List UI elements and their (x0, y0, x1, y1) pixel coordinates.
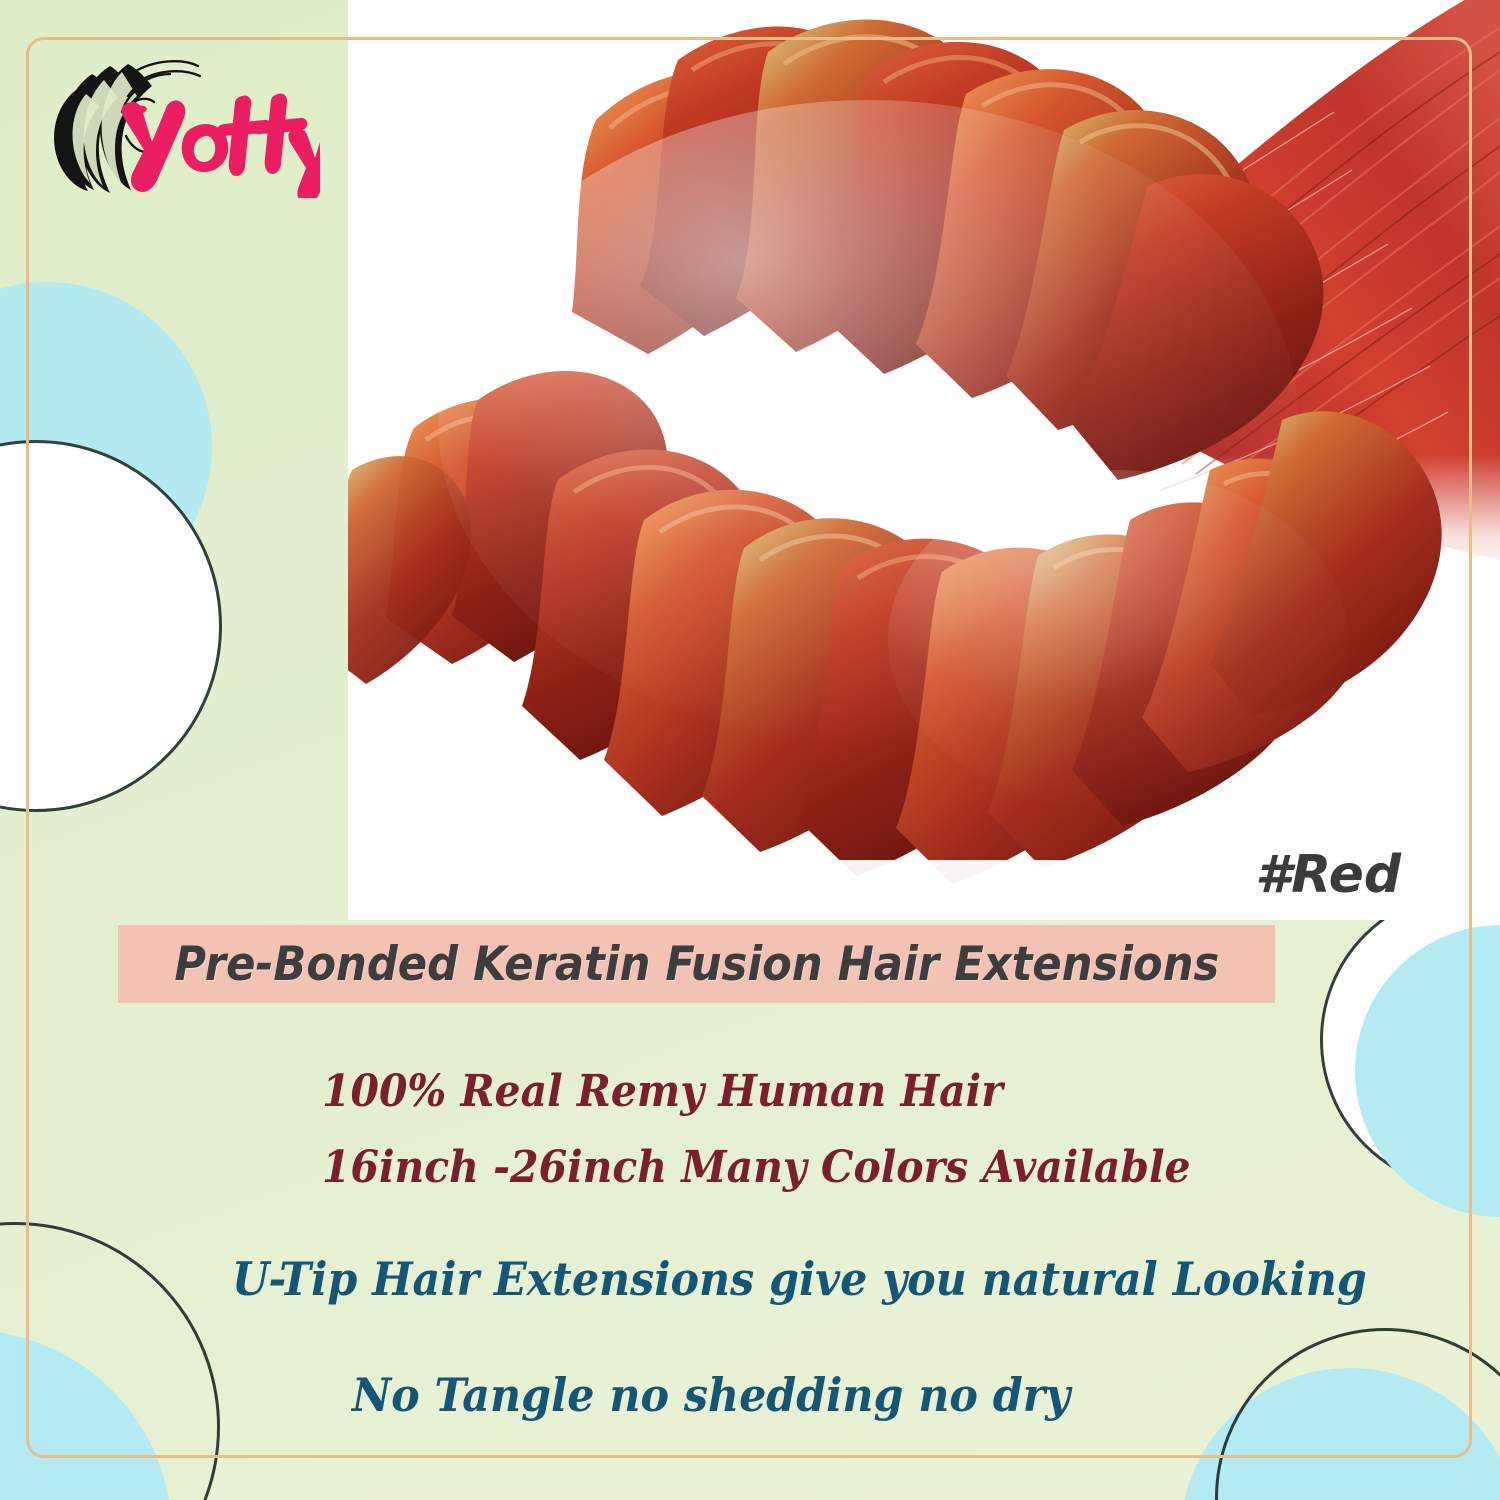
woman-with-flowing-hair-icon (30, 38, 320, 198)
feature-line-remy-hair: 100% Real Remy Human Hair (322, 1066, 1003, 1117)
brand-wordmark (122, 93, 320, 198)
headline-banner: Pre-Bonded Keratin Fusion Hair Extension… (118, 925, 1275, 1003)
feature-line-no-tangle: No Tangle no shedding no dry (352, 1368, 1070, 1422)
feature-line-natural-looking: U-Tip Hair Extensions give you natural L… (232, 1252, 1367, 1306)
feature-line-lengths-colors: 16inch -26inch Many Colors Available (322, 1142, 1191, 1193)
headline-text: Pre-Bonded Keratin Fusion Hair Extension… (174, 937, 1219, 992)
product-photo (348, 0, 1500, 920)
color-label: #Red (1255, 845, 1401, 905)
product-photo-illustration (348, 0, 1500, 920)
product-poster: #Red Pre-Bonded Keratin Fusion Hair Exte… (0, 0, 1500, 1500)
brand-logo (30, 38, 320, 198)
